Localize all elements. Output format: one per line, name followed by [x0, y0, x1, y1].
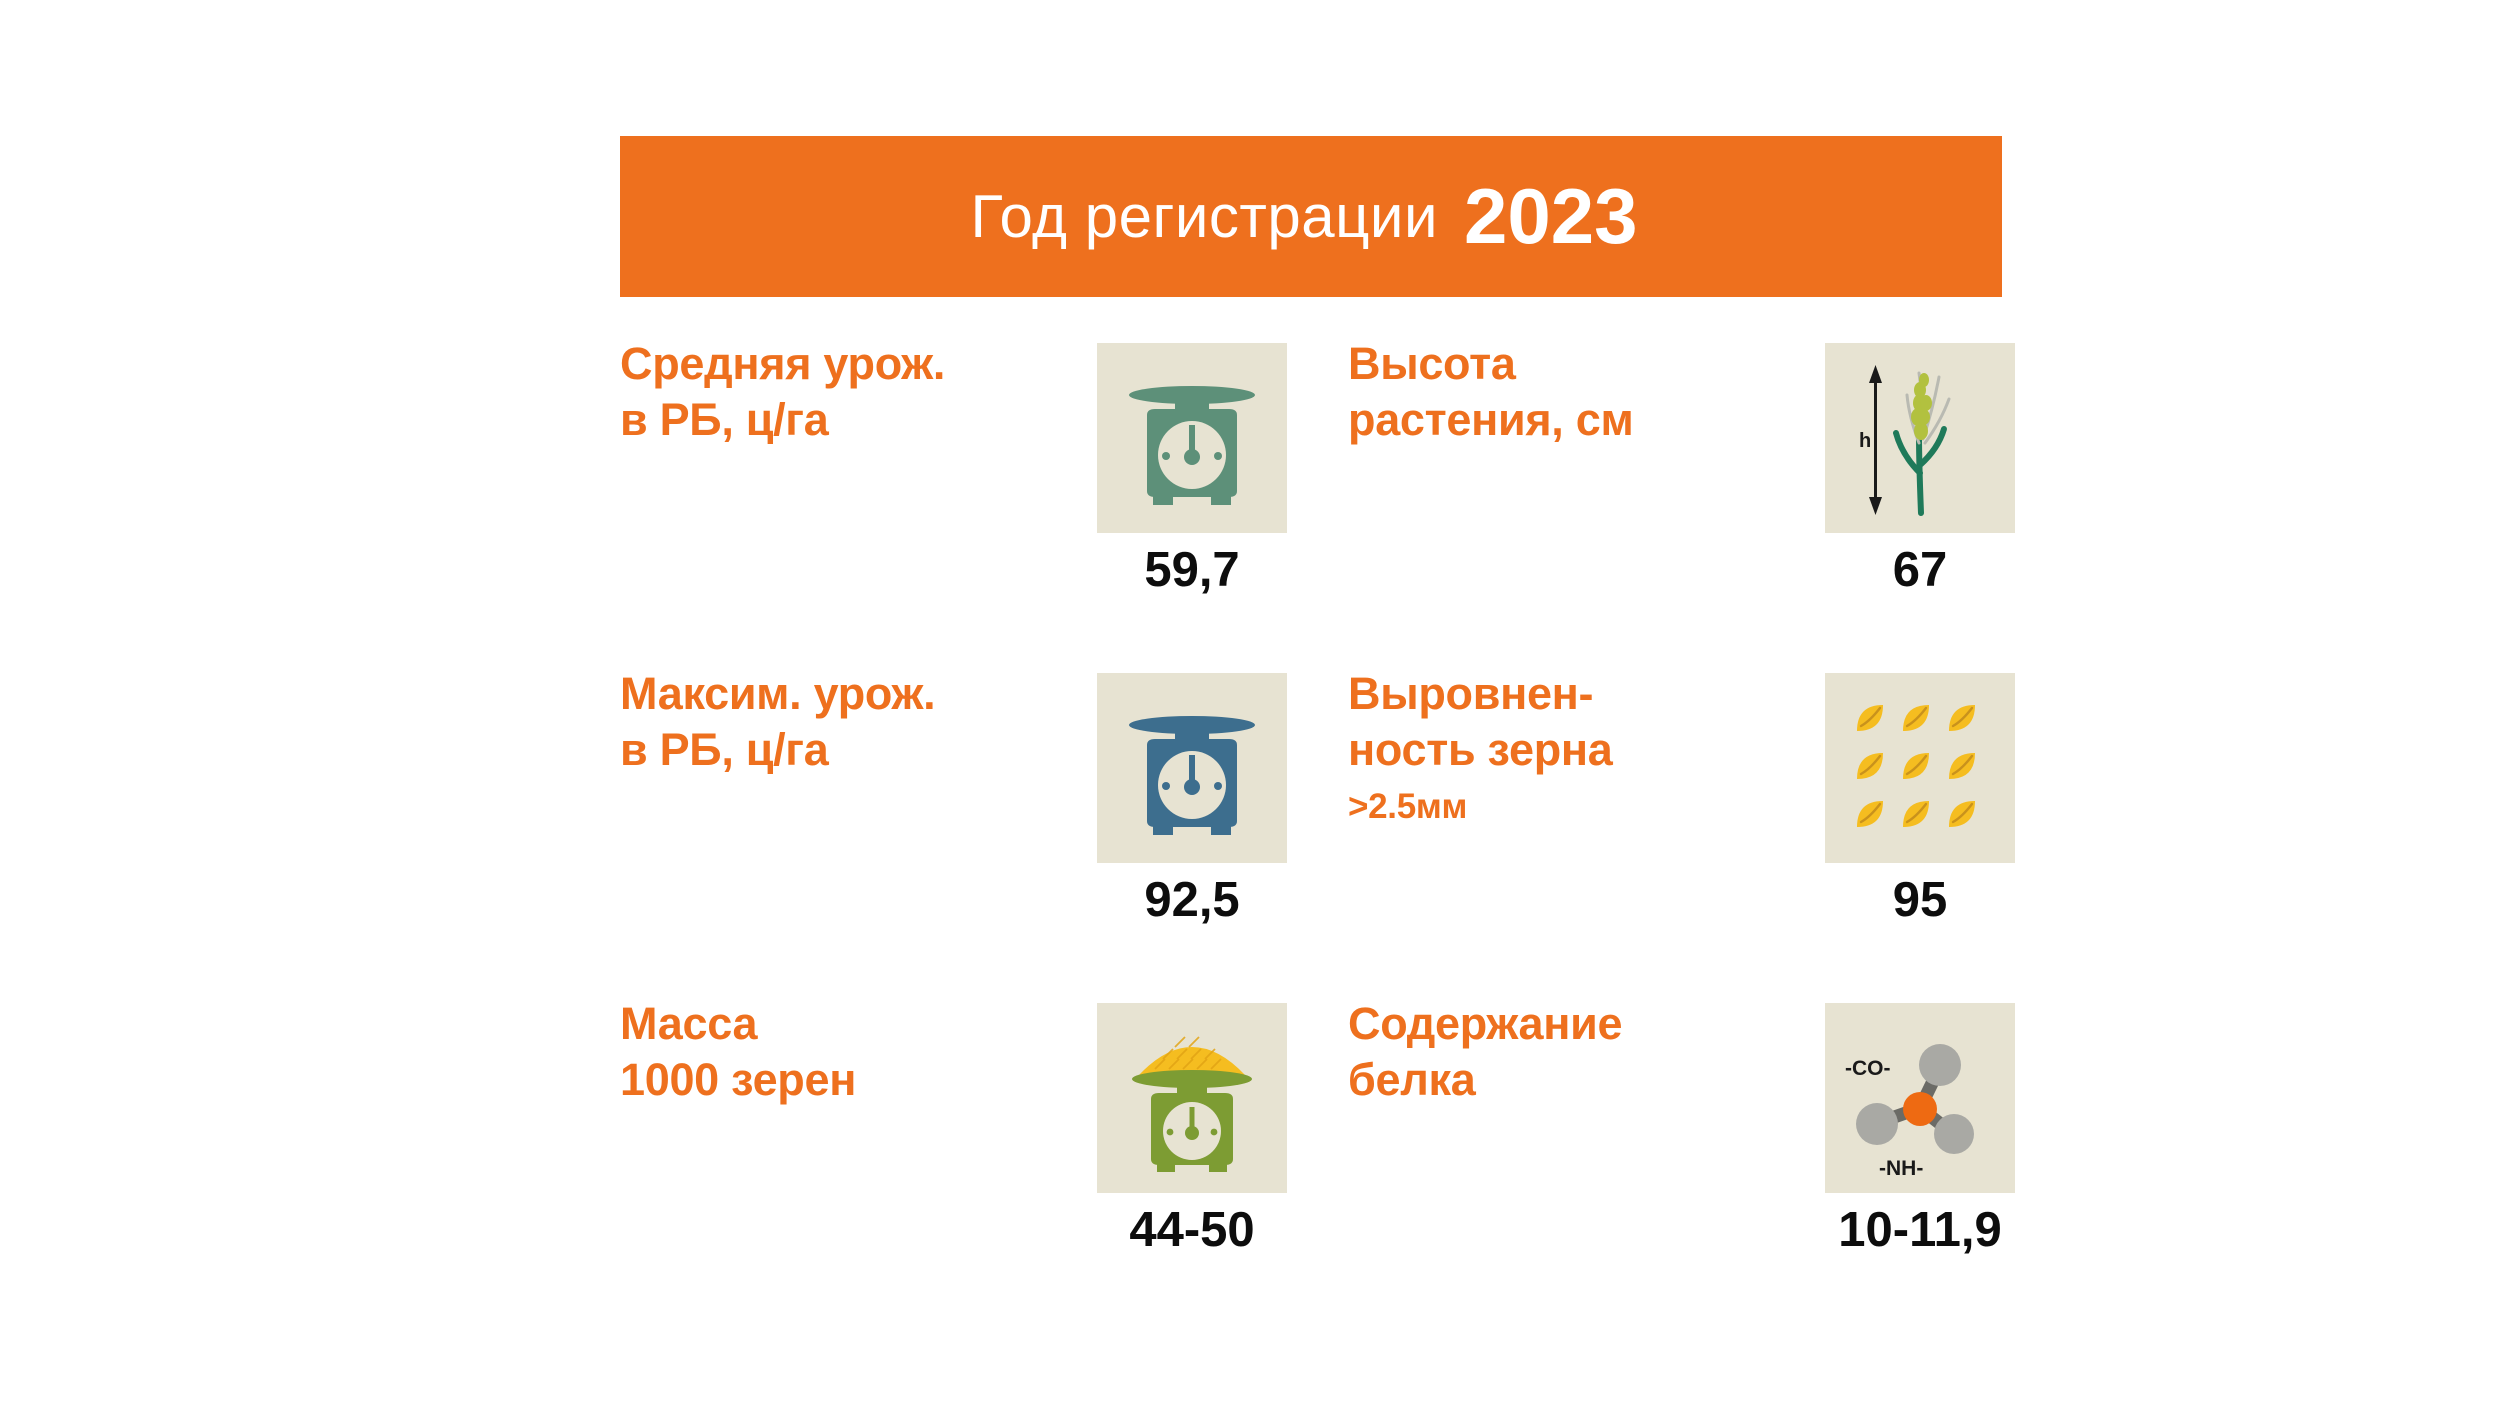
banner-label: Год регистрации: [971, 182, 1438, 251]
metric-label-line-1: Выровнен-: [1348, 666, 1798, 722]
metric-label: Высота растения, см: [1348, 336, 1798, 448]
metric-label-line-2: белка: [1348, 1052, 1798, 1108]
protein-molecule-icon: -CO- -NH-: [1825, 1003, 2015, 1193]
kitchen-scale-icon: [1097, 343, 1287, 533]
metric-label-line-2: в РБ, ц/га: [620, 392, 1070, 448]
metric-label: Выровнен- ность зерна >2.5мм: [1348, 666, 1798, 829]
metric-plant-height: Высота растения, см h: [1348, 330, 2038, 660]
metric-label-line-2: 1000 зерен: [620, 1052, 1070, 1108]
metric-value: 10-11,9: [1825, 1202, 2015, 1258]
kitchen-scale-blue-icon: [1097, 673, 1287, 863]
metric-value: 67: [1825, 542, 2015, 598]
metric-label: Содержание белка: [1348, 996, 1798, 1108]
metric-thousand-grain-weight: Масса 1000 зерен: [620, 990, 1310, 1320]
scale-with-grain-icon: [1097, 1003, 1287, 1193]
banner-year-value: 2023: [1464, 171, 1638, 262]
metric-label: Максим. урож. в РБ, ц/га: [620, 666, 1070, 778]
metric-label-line-1: Масса: [620, 996, 1070, 1052]
metric-average-yield: Средняя урож. в РБ, ц/га 5: [620, 330, 1310, 660]
metric-label-line-1: Содержание: [1348, 996, 1798, 1052]
molecule-label-nh: -NH-: [1879, 1157, 1923, 1180]
metric-label-line-2: в РБ, ц/га: [620, 722, 1070, 778]
molecule-label-co: -CO-: [1845, 1057, 1891, 1080]
metric-label: Масса 1000 зерен: [620, 996, 1070, 1108]
metric-sub-label: >2.5мм: [1348, 784, 1798, 830]
metric-value: 44-50: [1097, 1202, 1287, 1258]
height-annotation-h: h: [1859, 430, 1871, 452]
metric-label-line-1: Средняя урож.: [620, 336, 1070, 392]
metric-label-line-1: Максим. урож.: [620, 666, 1070, 722]
metric-label: Средняя урож. в РБ, ц/га: [620, 336, 1070, 448]
registration-year-banner: Год регистрации 2023: [620, 136, 2002, 297]
metric-maximum-yield: Максим. урож. в РБ, ц/га 9: [620, 660, 1310, 990]
metrics-grid: Средняя урож. в РБ, ц/га 5: [620, 330, 2020, 1330]
metric-value: 59,7: [1097, 542, 1287, 598]
metric-protein-content: Содержание белка -CO- -NH-: [1348, 990, 2038, 1320]
metric-label-line-2: ность зерна: [1348, 722, 1798, 778]
metric-label-line-2: растения, см: [1348, 392, 1798, 448]
metric-grain-uniformity: Выровнен- ность зерна >2.5мм: [1348, 660, 2038, 990]
grain-kernels-grid-icon: [1825, 673, 2015, 863]
infographic-page: Год регистрации 2023 Средняя урож. в РБ,…: [0, 0, 2500, 1408]
metric-value: 95: [1825, 872, 2015, 928]
metric-label-line-1: Высота: [1348, 336, 1798, 392]
plant-height-icon: h: [1825, 343, 2015, 533]
metric-value: 92,5: [1097, 872, 1287, 928]
